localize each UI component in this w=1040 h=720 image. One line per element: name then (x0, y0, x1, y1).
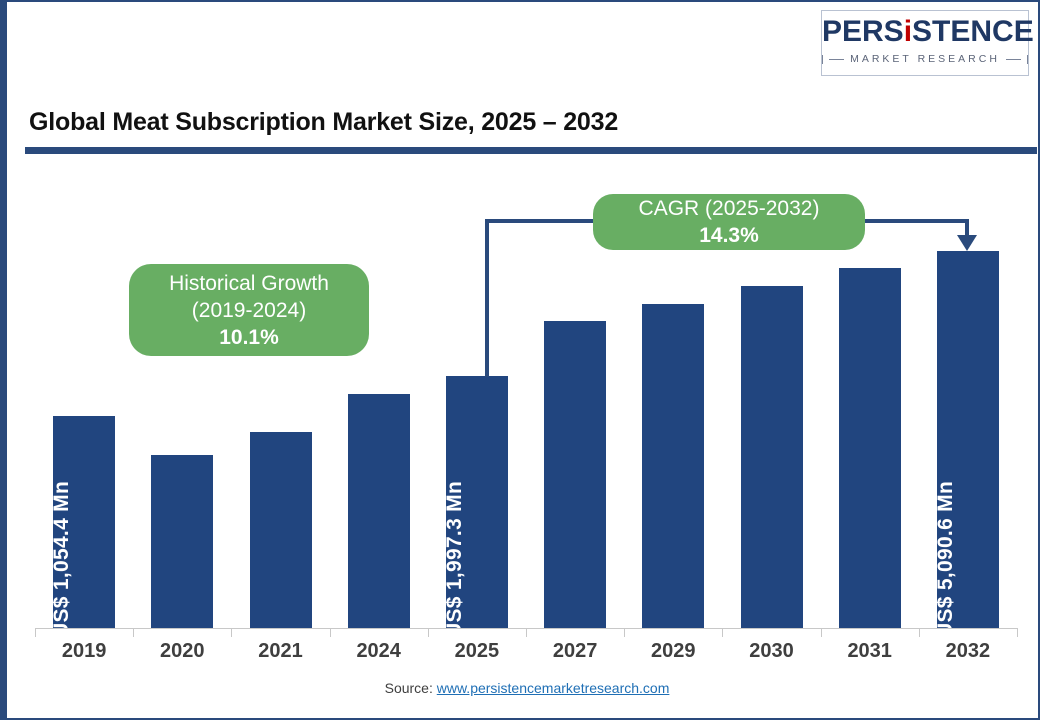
x-axis-label-2019: 2019 (35, 640, 133, 663)
bar-2027 (544, 321, 606, 628)
bar-2031 (839, 268, 901, 628)
source-link[interactable]: www.persistencemarketresearch.com (437, 680, 670, 696)
cagr-connector-left-vertical (485, 219, 489, 377)
cagr-value: 14.3% (699, 222, 759, 249)
cagr-arrow-down-icon (957, 235, 977, 251)
bar-2030 (741, 286, 803, 628)
x-axis-tick-2032 (919, 628, 920, 637)
x-axis-tick-2024 (330, 628, 331, 637)
cagr-line1: CAGR (2025-2032) (639, 195, 820, 222)
source-prefix: Source: (385, 680, 437, 696)
cagr-connector-right-horizontal (861, 219, 969, 223)
bar-2024 (348, 394, 410, 628)
x-axis-tick-2031 (821, 628, 822, 637)
bar-2029 (642, 304, 704, 628)
x-axis-tick-2030 (722, 628, 723, 637)
x-axis-label-2024: 2024 (330, 640, 428, 663)
bar-value-label-2025: US$ 1,997.3 Mn (443, 481, 467, 638)
x-axis-tick-end (1017, 628, 1018, 637)
x-axis-tick-2020 (133, 628, 134, 637)
x-axis-label-2025: 2025 (428, 640, 526, 663)
bar-value-label-2032: US$ 5,090.6 Mn (934, 481, 958, 638)
historical-growth-callout: Historical Growth (2019-2024) 10.1% (129, 264, 369, 356)
x-axis-label-2031: 2031 (821, 640, 919, 663)
bar-value-label-2019: US$ 1,054.4 Mn (50, 481, 74, 638)
x-axis-tick-2027 (526, 628, 527, 637)
x-axis-tick-2021 (231, 628, 232, 637)
x-axis-label-2021: 2021 (231, 640, 329, 663)
source-note: Source: www.persistencemarketresearch.co… (7, 680, 1040, 696)
x-axis-tick-2029 (624, 628, 625, 637)
x-axis-label-2029: 2029 (624, 640, 722, 663)
x-axis-label-2027: 2027 (526, 640, 624, 663)
historical-growth-line2: (2019-2024) (192, 297, 306, 324)
bar-chart-plot: US$ 1,054.4 MnUS$ 1,997.3 MnUS$ 5,090.6 … (7, 2, 1040, 720)
cagr-callout: CAGR (2025-2032) 14.3% (593, 194, 865, 250)
x-axis-label-2032: 2032 (919, 640, 1017, 663)
historical-growth-line1: Historical Growth (169, 270, 329, 297)
historical-growth-value: 10.1% (219, 324, 279, 351)
x-axis-tick-2019 (35, 628, 36, 637)
cagr-connector-left-horizontal (485, 219, 597, 223)
x-axis-label-2030: 2030 (722, 640, 820, 663)
chart-page: PERSiSTENCE MARKET RESEARCH Global Meat … (0, 0, 1040, 720)
x-axis-label-2020: 2020 (133, 640, 231, 663)
x-axis-tick-2025 (428, 628, 429, 637)
bar-2021 (250, 432, 312, 628)
bar-2020 (151, 455, 213, 628)
